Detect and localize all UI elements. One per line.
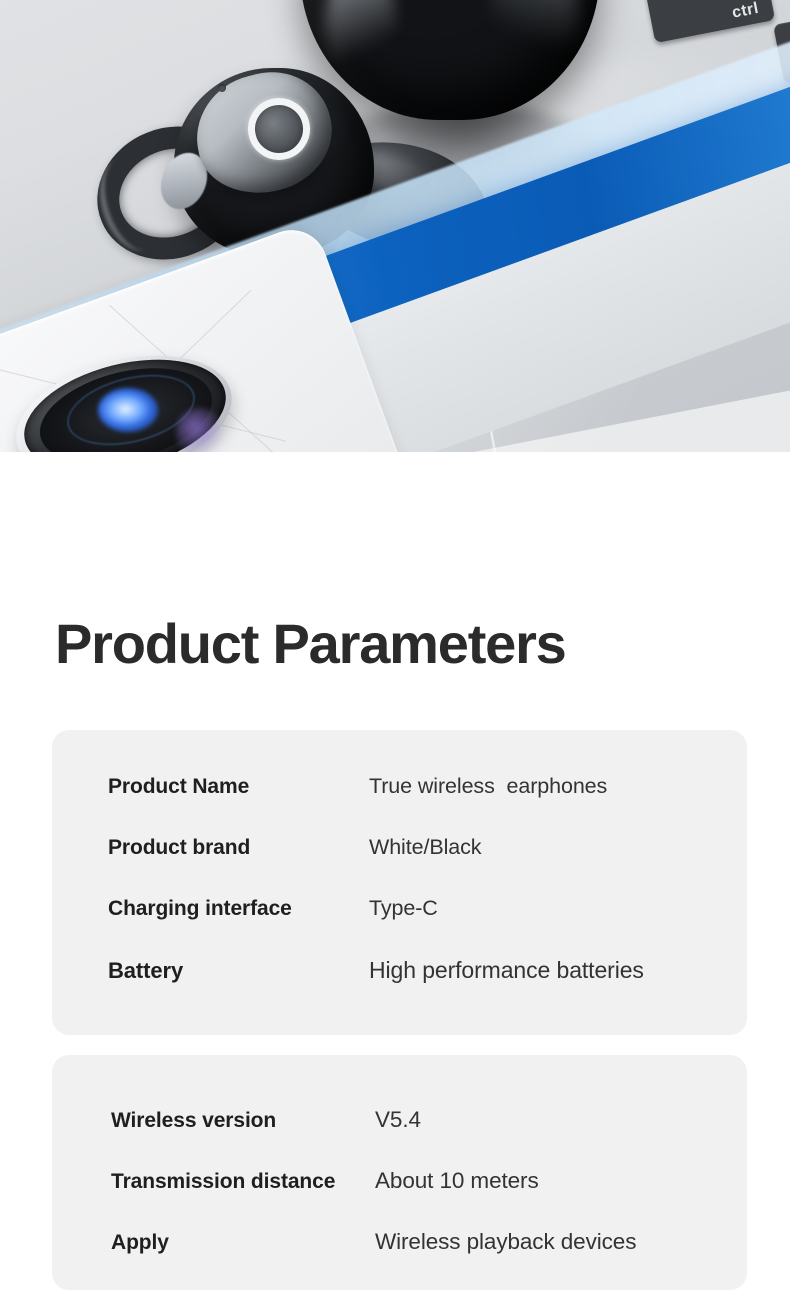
spec-row: Battery High performance batteries <box>108 957 747 1018</box>
spec-label: Product brand <box>108 836 369 860</box>
spec-row: Transmission distance About 10 meters <box>111 1168 747 1229</box>
spec-row-group: Wireless version V5.4 Transmission dista… <box>52 1055 747 1290</box>
spec-row-group: Product Name True wireless earphones Pro… <box>52 730 747 1018</box>
spec-value: V5.4 <box>375 1107 421 1133</box>
spec-value: White/Black <box>369 835 481 860</box>
spec-row: Wireless version V5.4 <box>111 1107 747 1168</box>
lens-purple-glint <box>176 408 224 452</box>
spec-value: True wireless earphones <box>369 774 607 799</box>
product-detail-page: ctrl <box>0 0 790 1300</box>
spec-value: About 10 meters <box>375 1168 539 1194</box>
spec-card: Product Name True wireless earphones Pro… <box>52 730 747 1035</box>
keyboard-key-label: ctrl <box>731 0 761 23</box>
earbud-mic-hole-icon <box>218 84 226 92</box>
hero-product-image: ctrl <box>0 0 790 452</box>
spec-label: Transmission distance <box>111 1170 375 1194</box>
spec-value: Wireless playback devices <box>375 1229 636 1255</box>
spec-label: Battery <box>108 958 369 984</box>
spec-row: Product Name True wireless earphones <box>108 774 747 835</box>
spec-label: Product Name <box>108 775 369 799</box>
spec-label: Charging interface <box>108 897 369 921</box>
spec-card: Wireless version V5.4 Transmission dista… <box>52 1055 747 1290</box>
spec-row: Charging interface Type-C <box>108 896 747 957</box>
page-title: Product Parameters <box>55 614 566 674</box>
spec-value: Type-C <box>369 896 438 921</box>
spec-label: Apply <box>111 1231 375 1255</box>
spec-label: Wireless version <box>111 1109 375 1133</box>
spec-row: Apply Wireless playback devices <box>111 1229 747 1290</box>
lens-flare <box>98 388 158 432</box>
spec-row: Product brand White/Black <box>108 835 747 896</box>
spec-value: High performance batteries <box>369 957 644 984</box>
